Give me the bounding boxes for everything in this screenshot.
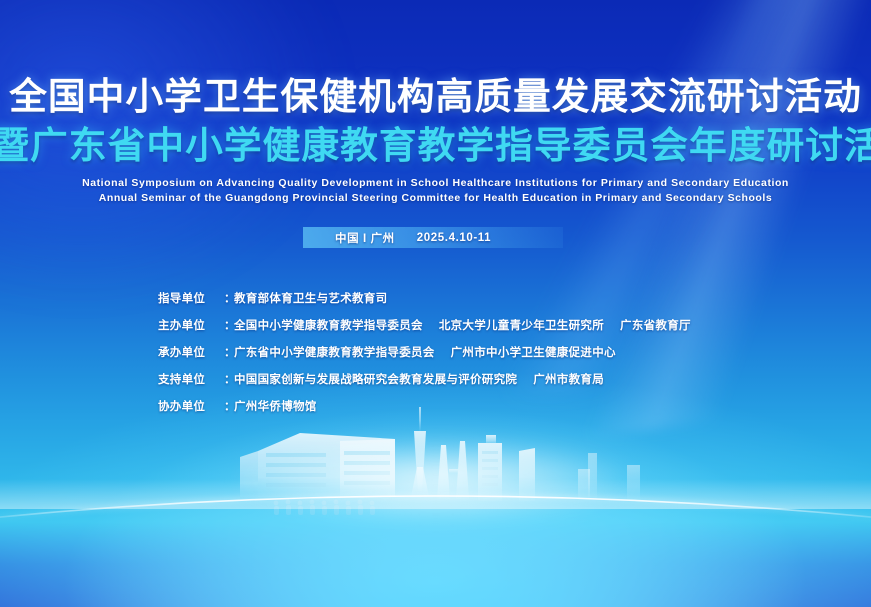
organizer-value: 广州华侨博物馆 <box>234 398 317 414</box>
organizer-value: 北京大学儿童青少年卫生研究所 <box>439 317 604 333</box>
horizon-curve-svg <box>0 467 871 607</box>
organizer-list: 指导单位 ： 教育部体育卫生与艺术教育司 主办单位 ： 全国中小学健康教育教学指… <box>158 290 691 425</box>
title-line-secondary: 暨广东省中小学健康教育教学指导委员会年度研讨活动 <box>0 123 871 168</box>
event-info-band: 中国 I 广州 2025.4.10-11 <box>303 227 563 248</box>
poster-title: 全国中小学卫生保健机构高质量发展交流研讨活动 暨广东省中小学健康教育教学指导委员… <box>0 74 871 168</box>
event-date: 2025.4.10-11 <box>417 232 491 244</box>
organizer-label: 支持单位 <box>158 371 224 387</box>
title-line-primary: 全国中小学卫生保健机构高质量发展交流研讨活动 <box>0 74 871 119</box>
organizer-value: 全国中小学健康教育教学指导委员会 <box>234 317 423 333</box>
organizer-label: 主办单位 <box>158 317 224 333</box>
organizer-row: 协办单位 ： 广州华侨博物馆 <box>158 398 691 425</box>
distant-towers-icon <box>578 453 640 501</box>
twin-towers-icon <box>437 441 469 499</box>
organizer-value: 广州市教育局 <box>533 371 604 387</box>
office-tower-icon <box>519 448 535 501</box>
organizer-colon: ： <box>224 371 234 387</box>
poster-canvas: 全国中小学卫生保健机构高质量发展交流研讨活动 暨广东省中小学健康教育教学指导委员… <box>0 0 871 607</box>
organizer-value: 教育部体育卫生与艺术教育司 <box>234 290 387 306</box>
organizer-colon: ： <box>224 290 234 306</box>
organizer-value: 中国国家创新与发展战略研究会教育发展与评价研究院 <box>234 371 517 387</box>
organizer-colon: ： <box>224 398 234 414</box>
school-building-icon <box>240 433 395 515</box>
high-rise-block-icon <box>478 435 502 501</box>
organizer-value: 广东省中小学健康教育教学指导委员会 <box>234 344 435 360</box>
organizer-row: 指导单位 ： 教育部体育卫生与艺术教育司 <box>158 290 691 317</box>
city-skyline <box>0 407 871 607</box>
organizer-colon: ： <box>224 317 234 333</box>
organizer-label: 指导单位 <box>158 290 224 306</box>
event-location: 中国 I 广州 <box>335 230 395 246</box>
organizer-row: 主办单位 ： 全国中小学健康教育教学指导委员会 北京大学儿童青少年卫生研究所 广… <box>158 317 691 344</box>
organizer-value: 广州市中小学卫生健康促进中心 <box>451 344 616 360</box>
subtitle-line-2: Annual Seminar of the Guangdong Provinci… <box>0 191 871 206</box>
organizer-label: 协办单位 <box>158 398 224 414</box>
organizer-value: 广东省教育厅 <box>620 317 691 333</box>
skyline-svg <box>0 407 871 607</box>
poster-subtitle-english: National Symposium on Advancing Quality … <box>0 176 871 206</box>
horizon-glow <box>226 435 646 525</box>
organizer-colon: ： <box>224 344 234 360</box>
horizon-curve <box>0 467 871 607</box>
organizer-row: 支持单位 ： 中国国家创新与发展战略研究会教育发展与评价研究院 广州市教育局 <box>158 371 691 398</box>
organizer-label: 承办单位 <box>158 344 224 360</box>
organizer-row: 承办单位 ： 广东省中小学健康教育教学指导委员会 广州市中小学卫生健康促进中心 <box>158 344 691 371</box>
subtitle-line-1: National Symposium on Advancing Quality … <box>0 176 871 191</box>
